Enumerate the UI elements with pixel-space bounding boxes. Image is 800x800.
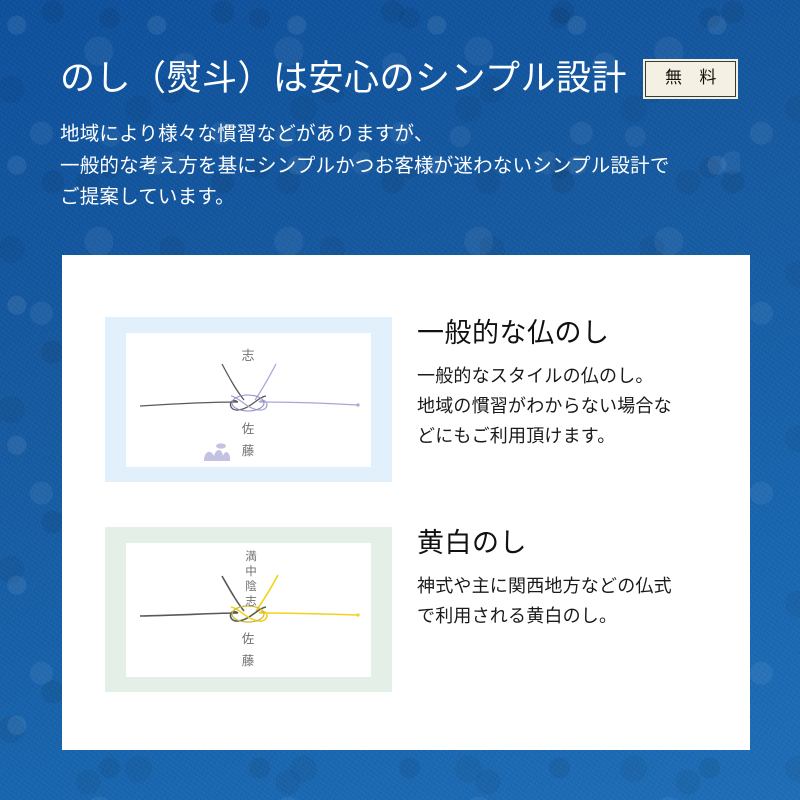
noshi-desc-yellow-white: 神式や主に関西地方などの仏式 で利用される黄白のし。: [417, 572, 672, 632]
page-background: のし（熨斗）は安心のシンプル設計 無 料 地域により様々な慣習などがありますが、…: [0, 0, 800, 800]
lead-line-1: 地域により様々な慣習などがありますが、: [60, 118, 760, 150]
noshi-card-yellow-white: 満 中 陰 志 佐 藤: [126, 543, 371, 677]
noshi-thumbnail-buddhist[interactable]: 志 佐 藤: [105, 317, 392, 482]
free-badge: 無 料: [645, 61, 736, 97]
noshi-illustration-yellow-white: 満 中 陰 志 佐 藤: [126, 543, 371, 677]
noshi-card-buddhist: 志 佐 藤: [126, 333, 371, 467]
noshi-desc-line-2: 地域の慣習がわからない場合な: [417, 392, 672, 422]
noshi-name-char-1: 佐: [242, 421, 255, 436]
noshi-purpose-char-2: 中: [245, 564, 257, 578]
lead-line-2: 一般的な考え方を基にシンプルかつお客様が迷わないシンプル設計で: [60, 150, 760, 182]
noshi-item-yellow-white: 満 中 陰 志 佐 藤 黄白のし 神式や主に関西地方などの仏式 で利用される黄白…: [105, 527, 672, 692]
lead-line-3: ご提案しています。: [60, 181, 760, 213]
page-header: のし（熨斗）は安心のシンプル設計 無 料 地域により様々な慣習などがありますが、…: [60, 58, 760, 213]
noshi-title-yellow-white: 黄白のし: [417, 529, 672, 559]
noshi-name-char-1: 佐: [242, 631, 255, 646]
noshi-name-char-2: 藤: [242, 653, 255, 668]
lead-paragraph: 地域により様々な慣習などがありますが、 一般的な考え方を基にシンプルかつお客様が…: [60, 118, 760, 213]
noshi-item-buddhist: 志 佐 藤 一般的な仏のし 一般的なスタイルの仏のし。: [105, 317, 672, 482]
noshi-purpose-char-1: 満: [245, 549, 257, 563]
noshi-desc-line-2: で利用される黄白のし。: [417, 602, 672, 632]
lotus-icon: [204, 443, 230, 461]
noshi-purpose-char-3: 陰: [245, 579, 257, 593]
noshi-desc-line-1: 神式や主に関西地方などの仏式: [417, 572, 672, 602]
noshi-desc-line-3: どにもご利用頂けます。: [417, 422, 672, 452]
noshi-copy-buddhist: 一般的な仏のし 一般的なスタイルの仏のし。 地域の慣習がわからない場合な どにも…: [417, 317, 672, 452]
noshi-purpose-text: 志: [241, 349, 254, 364]
noshi-desc-buddhist: 一般的なスタイルの仏のし。 地域の慣習がわからない場合な どにもご利用頂けます。: [417, 362, 672, 453]
noshi-title-buddhist: 一般的な仏のし: [417, 319, 672, 349]
noshi-purpose-char-4: 志: [245, 594, 257, 608]
noshi-name-char-2: 藤: [242, 443, 255, 458]
content-panel: 志 佐 藤 一般的な仏のし 一般的なスタイルの仏のし。: [62, 255, 750, 750]
noshi-illustration-buddhist: 志 佐 藤: [126, 333, 371, 467]
noshi-copy-yellow-white: 黄白のし 神式や主に関西地方などの仏式 で利用される黄白のし。: [417, 527, 672, 632]
noshi-desc-line-1: 一般的なスタイルの仏のし。: [417, 362, 672, 392]
title-row: のし（熨斗）は安心のシンプル設計 無 料: [60, 58, 760, 100]
noshi-thumbnail-yellow-white[interactable]: 満 中 陰 志 佐 藤: [105, 527, 392, 692]
page-title: のし（熨斗）は安心のシンプル設計: [60, 58, 627, 100]
